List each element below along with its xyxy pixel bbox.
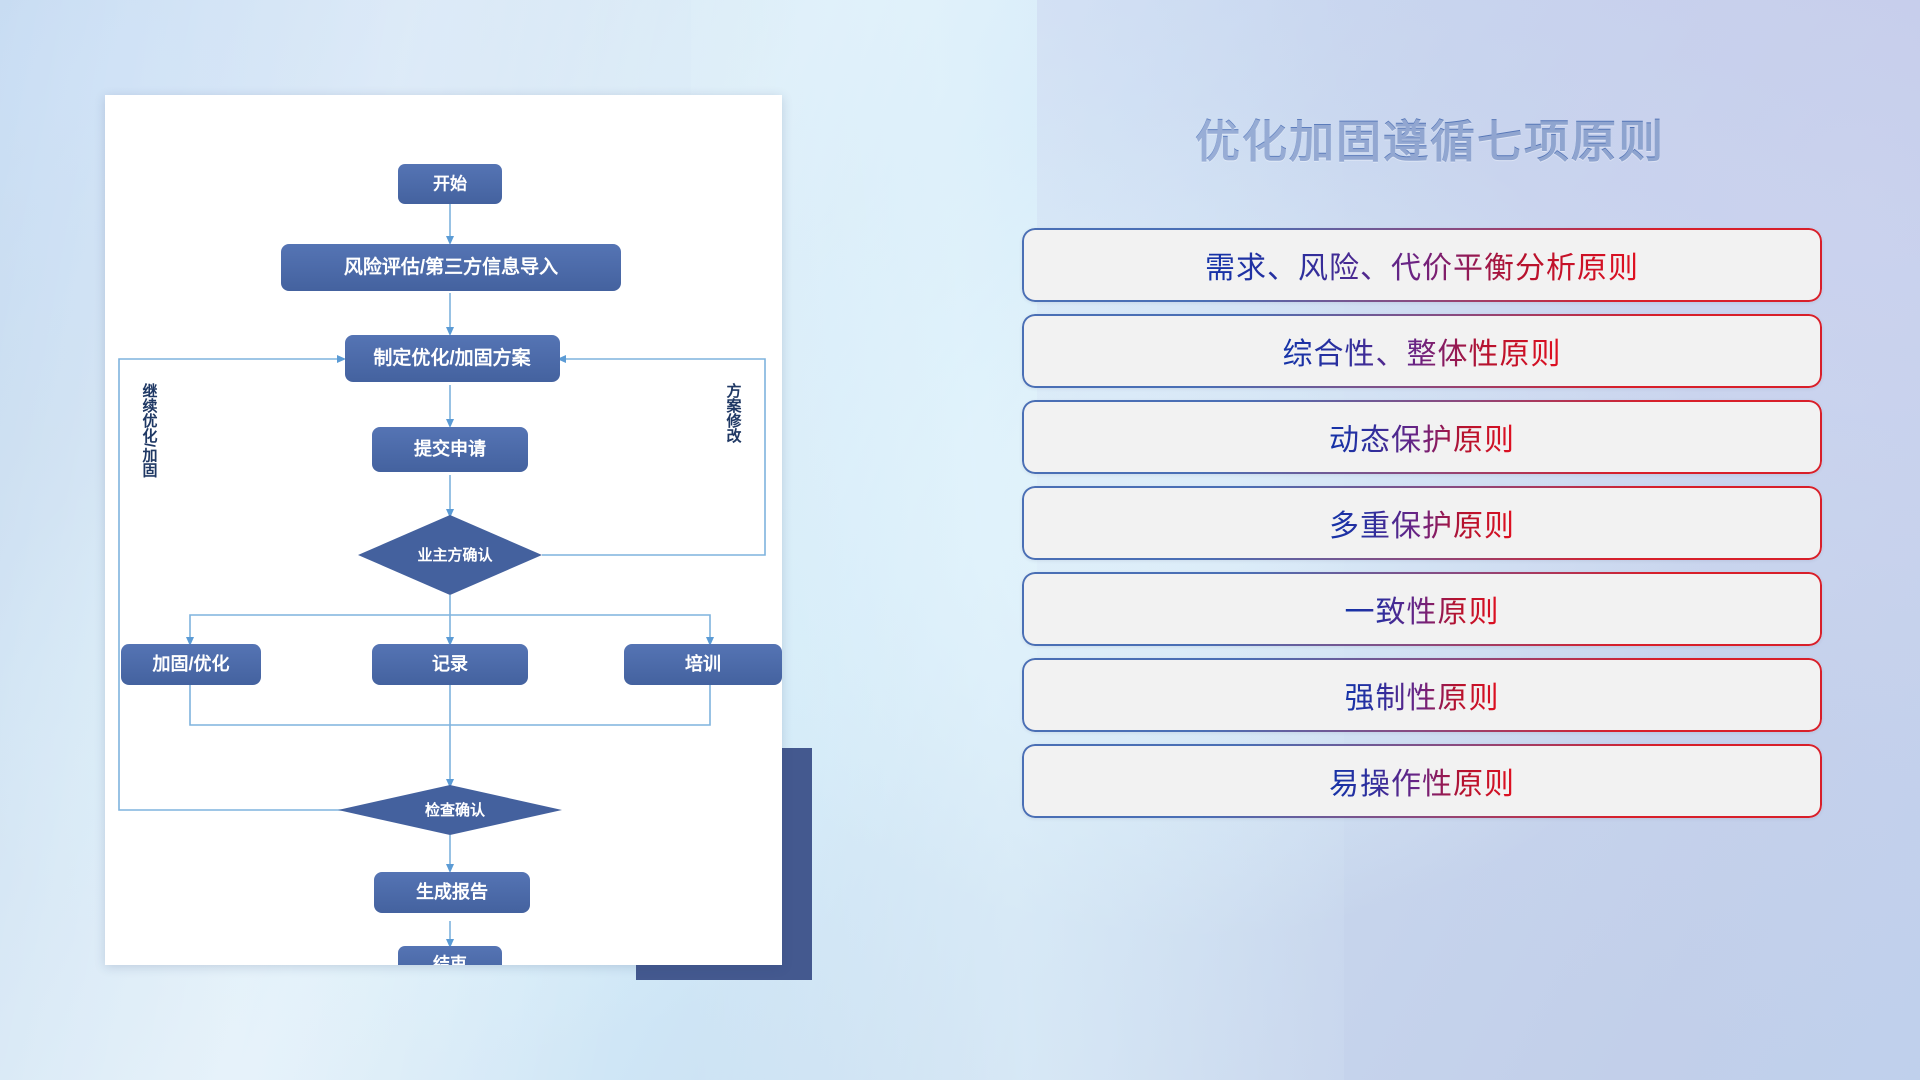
edge-label-left-loop: 继续优化/加固 <box>141 382 159 478</box>
flow-node-record[interactable]: 记录 <box>372 644 528 685</box>
flow-node-check-confirm[interactable]: 检查确认 <box>338 785 562 835</box>
principles-panel: 优化加固遵循七项原则 需求、风险、代价平衡分析原则 综合性、整体性原则 动态保护… <box>1000 0 1920 1080</box>
flow-node-plan-label: 制定优化/加固方案 <box>373 346 531 369</box>
flow-node-training-label: 培训 <box>685 653 721 674</box>
flow-node-start-label: 开始 <box>433 173 467 193</box>
principle-item-7-label: 易操作性原则 <box>1329 759 1515 803</box>
principles-title: 优化加固遵循七项原则 <box>1000 105 1860 170</box>
flowchart-panel: 继续优化/加固 方案修改 开始 风险评估/第三方信息导入 制定优化/加固方案 提… <box>0 0 860 1080</box>
flow-node-start[interactable]: 开始 <box>398 164 502 204</box>
principles-list: 需求、风险、代价平衡分析原则 综合性、整体性原则 动态保护原则 多重保护原则 一… <box>1022 228 1822 818</box>
flow-node-end-label: 结束 <box>433 953 467 965</box>
flowchart-diagram: 继续优化/加固 方案修改 开始 风险评估/第三方信息导入 制定优化/加固方案 提… <box>105 95 782 965</box>
flow-node-owner-confirm[interactable]: 业主方确认 <box>358 515 542 595</box>
principle-item-1[interactable]: 需求、风险、代价平衡分析原则 <box>1022 228 1822 302</box>
edge-label-right-loop: 方案修改 <box>725 382 743 444</box>
flow-node-reinforce[interactable]: 加固/优化 <box>121 644 261 685</box>
principle-item-4[interactable]: 多重保护原则 <box>1022 486 1822 560</box>
flow-node-check-confirm-label: 检查确认 <box>425 801 486 819</box>
principle-item-3-label: 动态保护原则 <box>1329 415 1515 459</box>
flow-node-submit[interactable]: 提交申请 <box>372 427 528 472</box>
principle-item-6-label: 强制性原则 <box>1345 673 1500 717</box>
principle-item-2-label: 综合性、整体性原则 <box>1283 329 1562 373</box>
principle-item-2[interactable]: 综合性、整体性原则 <box>1022 314 1822 388</box>
flow-node-report-label: 生成报告 <box>416 881 488 902</box>
flow-node-training[interactable]: 培训 <box>624 644 782 685</box>
flow-node-plan[interactable]: 制定优化/加固方案 <box>345 335 560 382</box>
flow-node-end[interactable]: 结束 <box>398 946 502 965</box>
principle-item-5[interactable]: 一致性原则 <box>1022 572 1822 646</box>
flow-node-report[interactable]: 生成报告 <box>374 872 530 913</box>
flow-node-owner-confirm-label: 业主方确认 <box>417 546 493 564</box>
flow-node-reinforce-label: 加固/优化 <box>151 653 229 674</box>
principle-item-1-label: 需求、风险、代价平衡分析原则 <box>1205 243 1639 287</box>
flow-node-submit-label: 提交申请 <box>414 438 486 459</box>
principle-item-6[interactable]: 强制性原则 <box>1022 658 1822 732</box>
principle-item-5-label: 一致性原则 <box>1345 587 1500 631</box>
principle-item-7[interactable]: 易操作性原则 <box>1022 744 1822 818</box>
flow-node-risk-assessment[interactable]: 风险评估/第三方信息导入 <box>281 244 621 291</box>
flow-node-record-label: 记录 <box>432 654 468 674</box>
principle-item-4-label: 多重保护原则 <box>1329 501 1515 545</box>
flow-node-risk-assessment-label: 风险评估/第三方信息导入 <box>344 255 558 278</box>
principle-item-3[interactable]: 动态保护原则 <box>1022 400 1822 474</box>
